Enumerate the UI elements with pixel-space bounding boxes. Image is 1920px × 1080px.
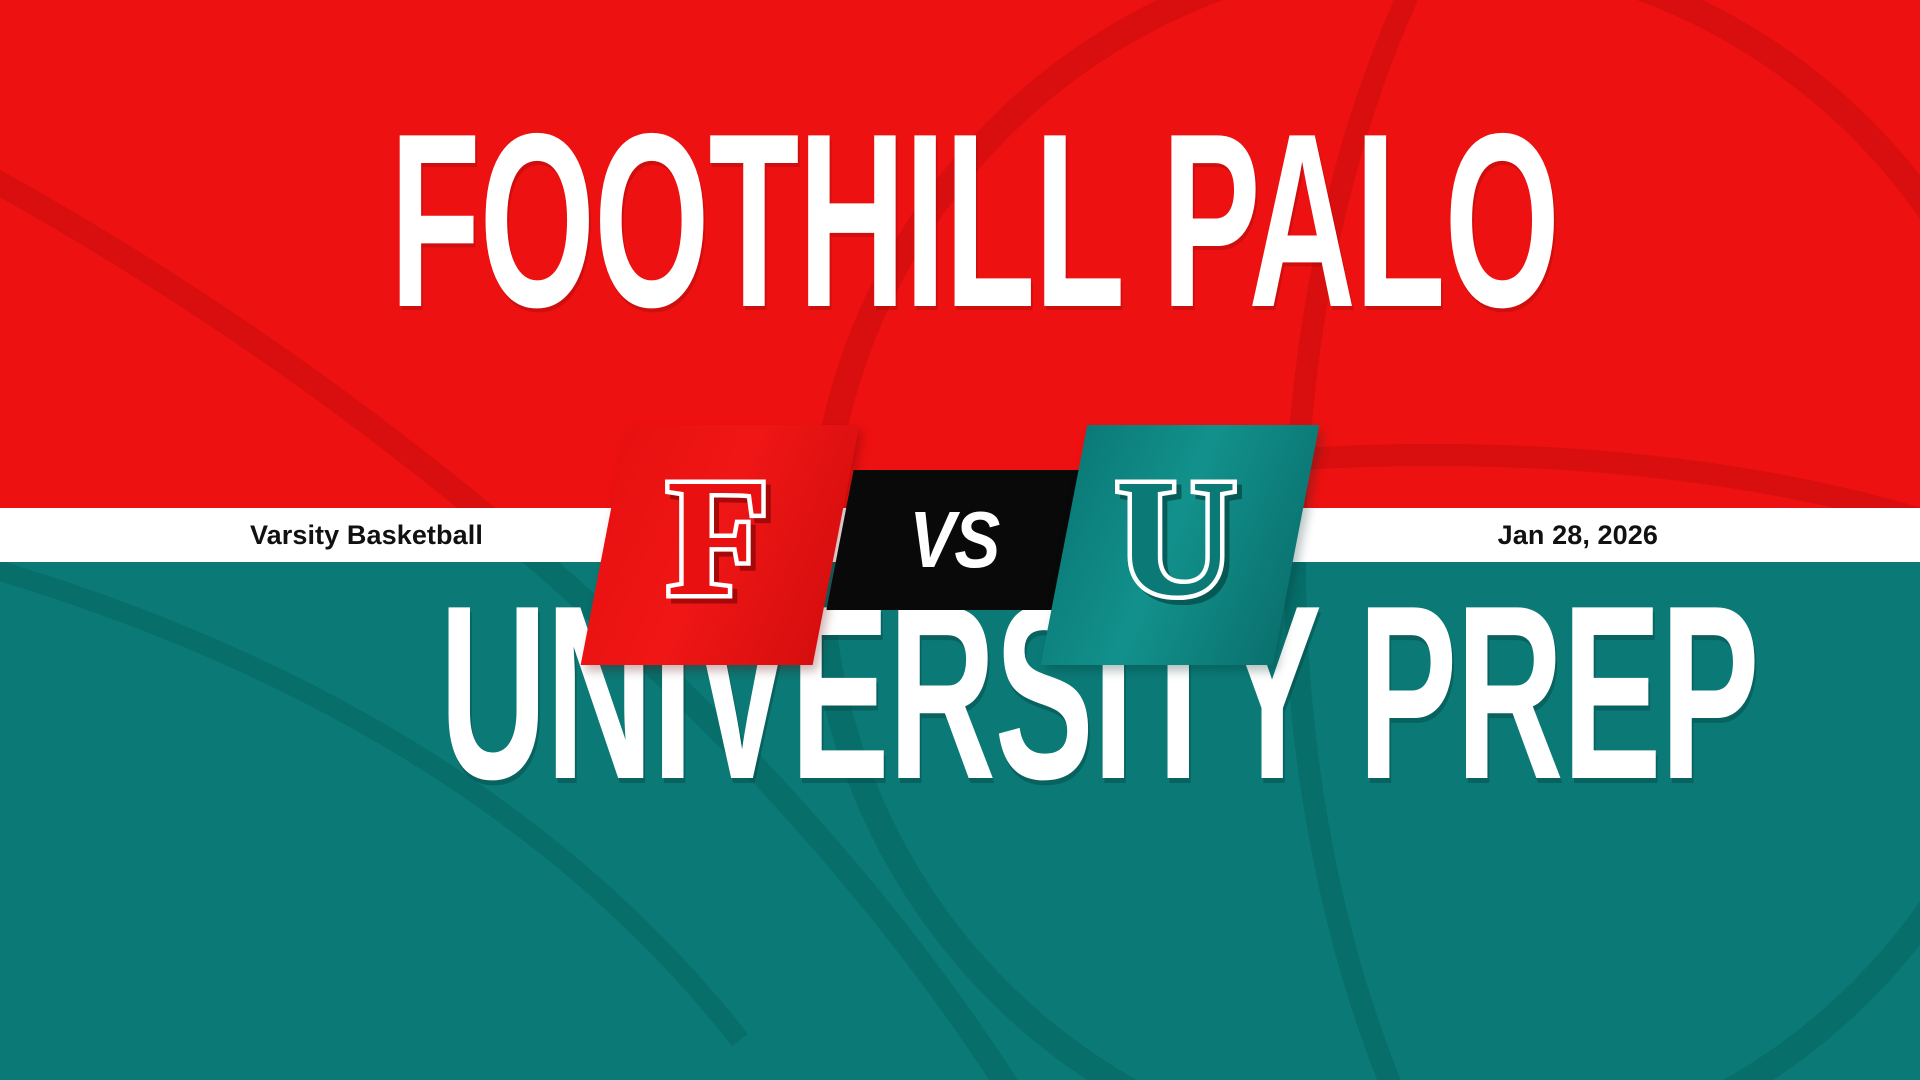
- away-team-badge: [1041, 425, 1320, 665]
- versus-slab: [826, 470, 1081, 610]
- matchup-graphic: FOOTHILL PALO UNIVERSITY PREP Varsity Ba…: [0, 0, 1920, 1080]
- matchup-badge-cluster: F VS U: [0, 0, 1920, 1080]
- home-team-badge: [581, 425, 860, 665]
